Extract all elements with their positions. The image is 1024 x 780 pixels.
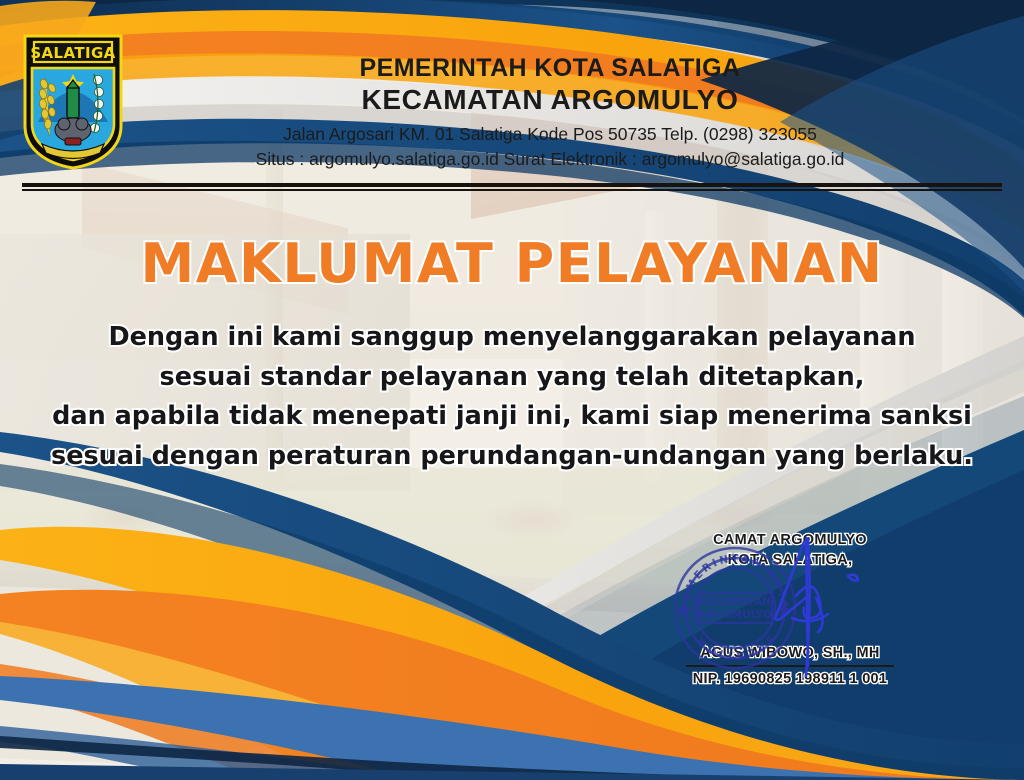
page-title: MAKLUMAT PELAYANAN [0, 232, 1024, 295]
government-line: PEMERINTAH KOTA SALATIGA [150, 54, 950, 83]
letterhead-divider [22, 183, 1002, 191]
letterhead-text: PEMERINTAH KOTA SALATIGA KECAMATAN ARGOM… [150, 54, 950, 172]
svg-text:KECAMATAN: KECAMATAN [699, 596, 771, 608]
statement-line-4: sesuai dengan peraturan perundangan-unda… [0, 437, 1024, 477]
statement-body: Dengan ini kami sanggup menyelanggarakan… [0, 318, 1024, 476]
salatiga-city-emblem-icon: SALATIGA [20, 30, 126, 172]
contact-line: Situs : argomulyo.salatiga.go.id Surat E… [150, 147, 950, 172]
maklumat-pelayanan-poster: SALATIGA [0, 0, 1024, 780]
svg-text:SALATIGA: SALATIGA [30, 44, 115, 62]
statement-line-3: dan apabila tidak menepati janji ini, ka… [0, 397, 1024, 437]
statement-line-2: sesuai standar pelayanan yang telah dite… [0, 358, 1024, 398]
svg-text:ARGOMULYO: ARGOMULYO [698, 609, 772, 621]
district-line: KECAMATAN ARGOMULYO [150, 83, 950, 116]
divider-thin-rule [22, 189, 1002, 191]
handwritten-signature [762, 538, 892, 678]
statement-line-1: Dengan ini kami sanggup menyelanggarakan… [0, 318, 1024, 358]
letterhead: SALATIGA [0, 14, 1024, 174]
address-line: Jalan Argosari KM. 01 Salatiga Kode Pos … [150, 122, 950, 147]
